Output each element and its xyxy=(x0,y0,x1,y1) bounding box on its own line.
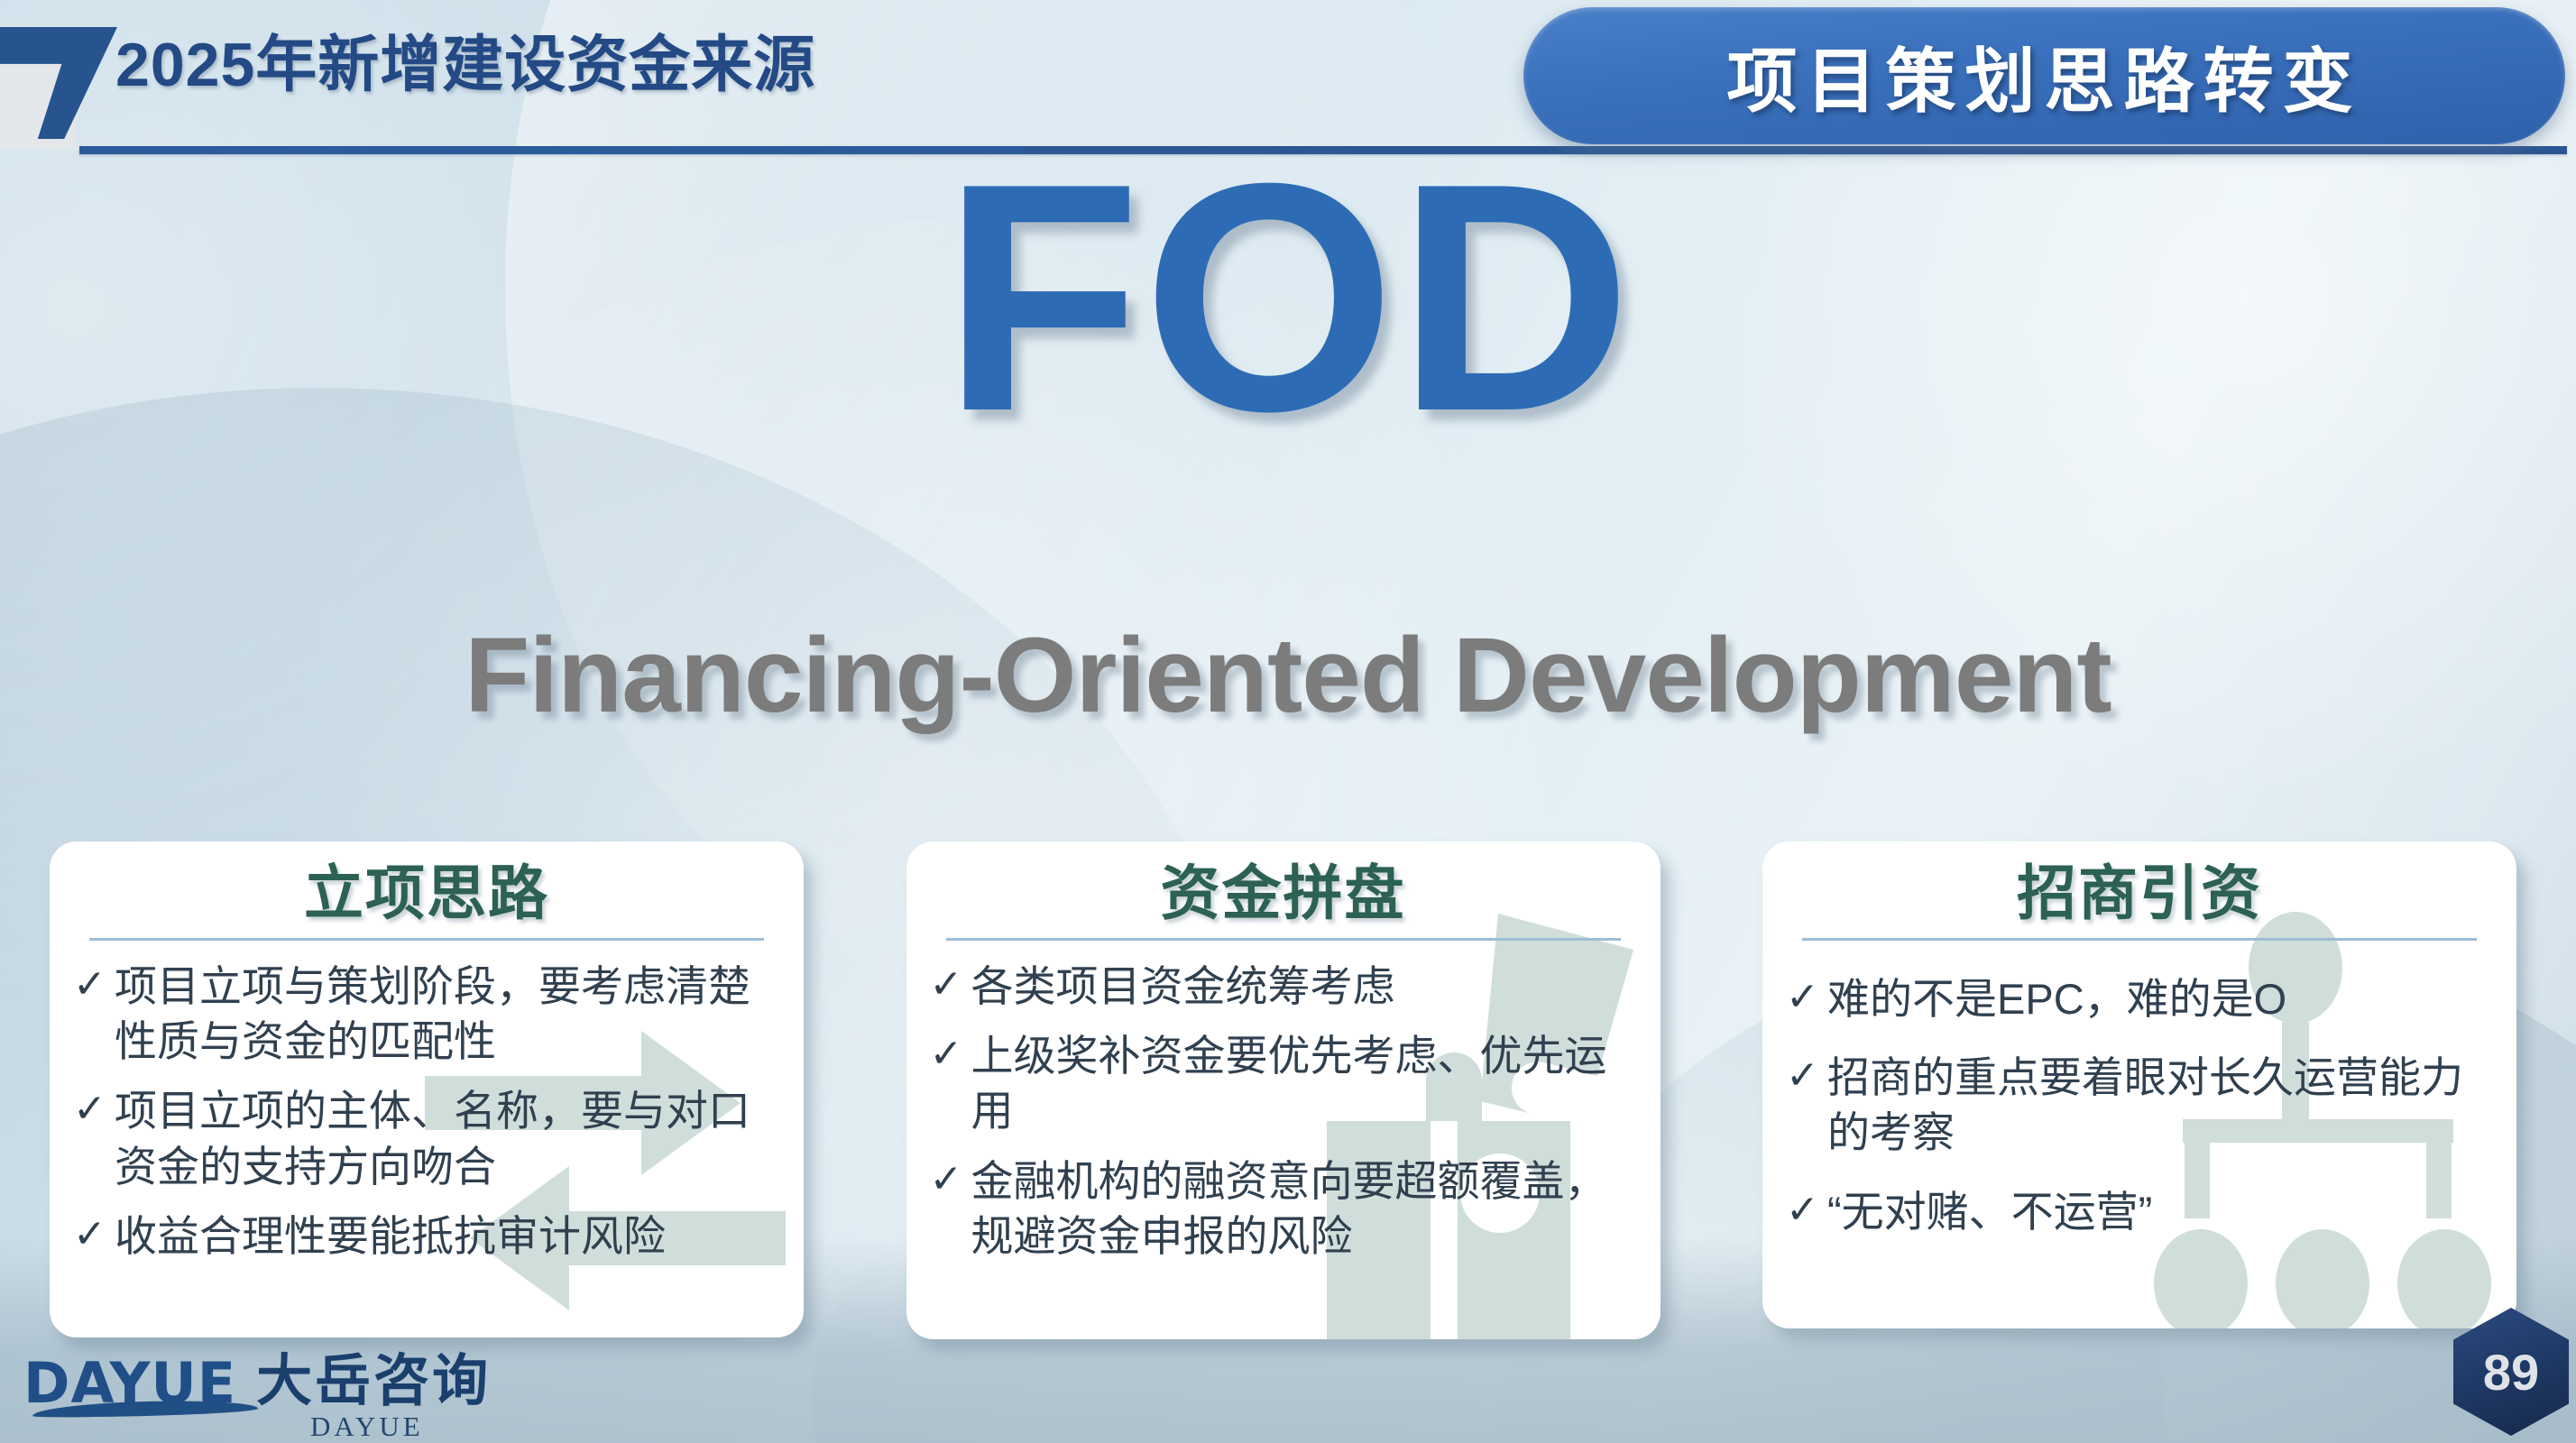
section-badge: 项目策划思路转变 xyxy=(1523,7,2565,144)
bullet-text: 项目立项的主体、名称，要与对口资金的支持方向吻合 xyxy=(115,1083,780,1193)
bullet-text: 金融机构的融资意向要超额覆盖，规避资金申报的风险 xyxy=(971,1153,1637,1264)
bullet-text: 项目立项与策划阶段，要考虑清楚性质与资金的匹配性 xyxy=(115,959,780,1069)
card-title: 立项思路 xyxy=(73,861,780,925)
list-item: ✓ 招商的重点要着眼对长久运营能力的考察 xyxy=(1786,1050,2493,1160)
page-title: 2025年新增建设资金来源 xyxy=(115,14,815,104)
card-divider xyxy=(1802,938,2477,941)
bullet-text: 各类项目资金统筹考虑 xyxy=(971,959,1637,1014)
list-item: ✓ 各类项目资金统筹考虑 xyxy=(930,959,1637,1014)
card-divider xyxy=(946,938,1621,941)
bullet-text: 招商的重点要着眼对长久运营能力的考察 xyxy=(1827,1050,2493,1160)
check-icon: ✓ xyxy=(930,1153,971,1205)
check-icon: ✓ xyxy=(73,1083,115,1135)
list-item: ✓ 项目立项与策划阶段，要考虑清楚性质与资金的匹配性 xyxy=(73,959,780,1069)
check-icon: ✓ xyxy=(930,1028,971,1080)
check-icon: ✓ xyxy=(1786,971,1827,1023)
bullet-text: 上级奖补资金要优先考虑、优先运用 xyxy=(971,1028,1637,1138)
bullet-text: 难的不是EPC，难的是O xyxy=(1827,971,2493,1026)
company-logo: DAYUE 大岳咨询 DAYUE CONSULTING xyxy=(23,1335,601,1434)
check-icon: ✓ xyxy=(1786,1050,1827,1101)
page-number: 89 xyxy=(2483,1343,2539,1402)
card-divider xyxy=(89,938,764,941)
card-zijin-pinpan[interactable]: 资金拼盘 ✓ 各类项目资金统筹考虑 ✓ 上级奖补资金要优先考虑、优先运用 ✓ 金… xyxy=(906,841,1661,1339)
list-item: ✓ 项目立项的主体、名称，要与对口资金的支持方向吻合 xyxy=(73,1083,780,1193)
list-item: ✓ 金融机构的融资意向要超额覆盖，规避资金申报的风险 xyxy=(930,1153,1637,1264)
bullet-text: “无对赌、不运营” xyxy=(1827,1184,2493,1239)
card-title: 资金拼盘 xyxy=(930,861,1637,925)
slide-canvas: 2025年新增建设资金来源 项目策划思路转变 FOD Financing-Ori… xyxy=(0,0,2576,1443)
card-zhaoshang-yinzi[interactable]: 招商引资 ✓ 难的不是EPC，难的是O ✓ 招商的重点要着眼对长久运营能力的考察… xyxy=(1762,841,2516,1328)
list-item: ✓ 上级奖补资金要优先考虑、优先运用 xyxy=(930,1028,1637,1138)
card-bullet-list: ✓ 难的不是EPC，难的是O ✓ 招商的重点要着眼对长久运营能力的考察 ✓ “无… xyxy=(1786,971,2493,1238)
list-item: ✓ 难的不是EPC，难的是O xyxy=(1786,971,2493,1026)
hero-acronym: FOD xyxy=(0,135,2576,460)
card-bullet-list: ✓ 项目立项与策划阶段，要考虑清楚性质与资金的匹配性 ✓ 项目立项的主体、名称，… xyxy=(73,959,780,1263)
check-icon: ✓ xyxy=(73,1209,115,1260)
bullet-text: 收益合理性要能抵抗审计风险 xyxy=(115,1209,780,1264)
check-icon: ✓ xyxy=(73,959,115,1010)
check-icon: ✓ xyxy=(930,959,971,1010)
list-item: ✓ “无对赌、不运营” xyxy=(1786,1184,2493,1239)
card-lixiang-silu[interactable]: 立项思路 ✓ 项目立项与策划阶段，要考虑清楚性质与资金的匹配性 ✓ 项目立项的主… xyxy=(50,841,804,1337)
logo-subtitle: DAYUE CONSULTING xyxy=(310,1411,601,1443)
check-icon: ✓ xyxy=(1786,1184,1827,1236)
hero-expansion: Financing-Oriented Development xyxy=(0,622,2576,729)
card-group: 立项思路 ✓ 项目立项与策划阶段，要考虑清楚性质与资金的匹配性 ✓ 项目立项的主… xyxy=(50,841,2516,1346)
list-item: ✓ 收益合理性要能抵抗审计风险 xyxy=(73,1209,780,1264)
card-bullet-list: ✓ 各类项目资金统筹考虑 ✓ 上级奖补资金要优先考虑、优先运用 ✓ 金融机构的融… xyxy=(930,959,1637,1263)
card-title: 招商引资 xyxy=(1786,861,2493,925)
logo-chinese-text: 大岳咨询 xyxy=(256,1335,491,1416)
section-badge-label: 项目策划思路转变 xyxy=(1726,25,2361,126)
